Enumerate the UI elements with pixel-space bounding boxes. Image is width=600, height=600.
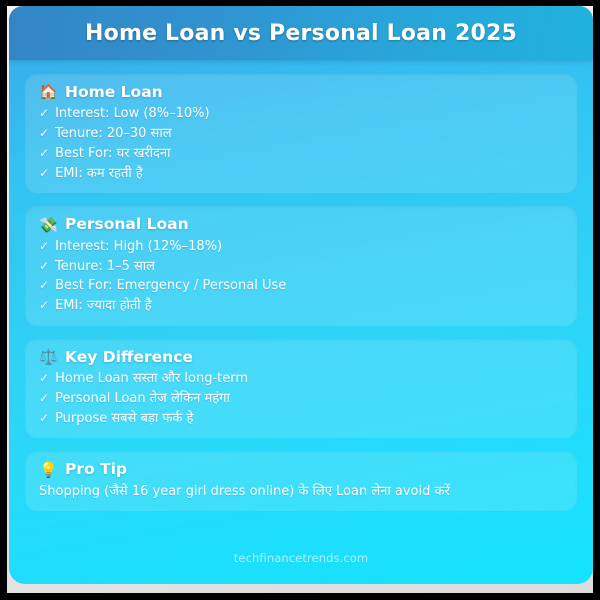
check-icon: ✓ [39,104,49,122]
list-item: ✓ Best For: घर खरीदना [39,144,563,164]
list-item-label: Interest: Low (8%–10%) [55,104,563,124]
poster-header: Home Loan vs Personal Loan 2025 [9,6,593,60]
house-icon: 🏠 [39,85,56,100]
card-personal-loan: 💸 Personal Loan ✓ Interest: High (12%–18… [25,206,577,325]
list-item: ✓ Interest: High (12%–18%) [39,237,563,257]
website-credit: techfinancetrends.com [234,551,368,565]
list-item-label: EMI: कम रहती है [55,164,563,184]
list-item-label: Tenure: 1–5 साल [55,257,563,277]
card-header: 🏠 Home Loan [39,83,563,102]
list-item: ✓ Best For: Emergency / Personal Use [39,276,563,296]
money-with-wings-icon: 💸 [39,218,56,233]
check-icon: ✓ [39,369,49,387]
list-item: ✓ Purpose सबसे बड़ा फर्क हे [39,409,563,429]
check-icon: ✓ [39,164,49,182]
list-item-label: Personal Loan तेज लेकिन महंगा [55,389,563,409]
card-home-loan: 🏠 Home Loan ✓ Interest: Low (8%–10%) ✓ T… [25,74,577,193]
list-item: ✓ EMI: कम रहती है [39,164,563,184]
list-item-label: Tenure: 20–30 साल [55,124,563,144]
list-item-label: EMI: ज्यादा होती है [55,296,563,316]
card-title: Personal Loan [65,215,189,234]
poster-frame: Home Loan vs Personal Loan 2025 🏠 Home L… [0,0,600,600]
light-bulb-icon: 💡 [39,463,56,478]
card-title: Home Loan [65,83,163,102]
card-key-difference: ⚖️ Key Difference ✓ Home Loan सस्ता और l… [25,339,577,439]
list-item: ✓ Tenure: 20–30 साल [39,124,563,144]
list-item: ✓ Tenure: 1–5 साल [39,257,563,277]
check-icon: ✓ [39,276,49,294]
card-title: Pro Tip [65,460,127,479]
list-item-label: Best For: Emergency / Personal Use [55,276,563,296]
poster-body: 🏠 Home Loan ✓ Interest: Low (8%–10%) ✓ T… [9,60,593,584]
list-item: ✓ Interest: Low (8%–10%) [39,104,563,124]
list-item: ✓ EMI: ज्यादा होती है [39,296,563,316]
page-title: Home Loan vs Personal Loan 2025 [85,21,517,46]
check-icon: ✓ [39,237,49,255]
list-item-label: Interest: High (12%–18%) [55,237,563,257]
balance-scale-icon: ⚖️ [39,350,56,365]
card-pro-tip: 💡 Pro Tip Shopping (जैसे 16 year girl dr… [25,451,577,511]
list-item-label: Purpose सबसे बड़ा फर्क हे [55,409,563,429]
list-item-label: Home Loan सस्ता और long-term [55,369,563,389]
check-icon: ✓ [39,144,49,162]
infographic-poster: Home Loan vs Personal Loan 2025 🏠 Home L… [9,6,593,584]
list-item: ✓ Home Loan सस्ता और long-term [39,369,563,389]
poster-paper-edge: Home Loan vs Personal Loan 2025 🏠 Home L… [7,6,593,593]
check-icon: ✓ [39,296,49,314]
pro-tip-text: Shopping (जैसे 16 year girl dress online… [39,482,563,502]
check-icon: ✓ [39,409,49,427]
card-header: ⚖️ Key Difference [39,348,563,367]
list-item: ✓ Personal Loan तेज लेकिन महंगा [39,389,563,409]
check-icon: ✓ [39,389,49,407]
check-icon: ✓ [39,124,49,142]
card-header: 💸 Personal Loan [39,215,563,234]
check-icon: ✓ [39,257,49,275]
card-title: Key Difference [65,348,193,367]
footer: techfinancetrends.com [9,547,593,566]
card-header: 💡 Pro Tip [39,460,563,479]
list-item-label: Best For: घर खरीदना [55,144,563,164]
